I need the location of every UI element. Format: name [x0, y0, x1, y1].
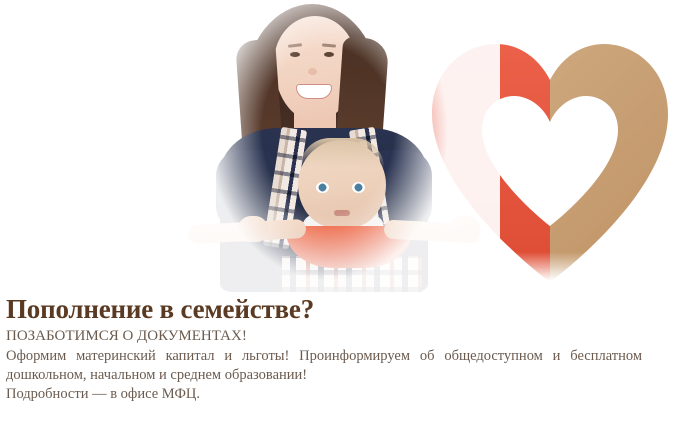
baby-eye-right	[352, 182, 365, 193]
poster-headline: Пополнение в семействе?	[6, 294, 642, 324]
poster-subheadline: ПОЗАБОТИМСЯ О ДОКУМЕНТАХ!	[6, 327, 642, 346]
mother-and-baby-photo	[182, 0, 472, 292]
mother-nose	[308, 68, 317, 75]
mother-eye-right	[324, 52, 334, 57]
poster-text-block: Пополнение в семействе? ПОЗАБОТИМСЯ О ДО…	[6, 294, 642, 404]
mfc-promo-poster: Пополнение в семействе? ПОЗАБОТИМСЯ О ДО…	[0, 0, 684, 424]
mother-smile	[296, 84, 332, 99]
baby-mouth	[334, 210, 350, 216]
mother-eye-left	[290, 52, 300, 57]
baby-eye-left	[316, 182, 329, 193]
mother-hand-left	[238, 216, 268, 242]
poster-body-paragraph: Оформим материнский капитал и льготы! Пр…	[6, 347, 642, 385]
poster-artwork	[0, 0, 684, 292]
mother-hand-right	[450, 216, 480, 242]
poster-contact-line: Подробности — в офисе МФЦ.	[6, 385, 642, 404]
